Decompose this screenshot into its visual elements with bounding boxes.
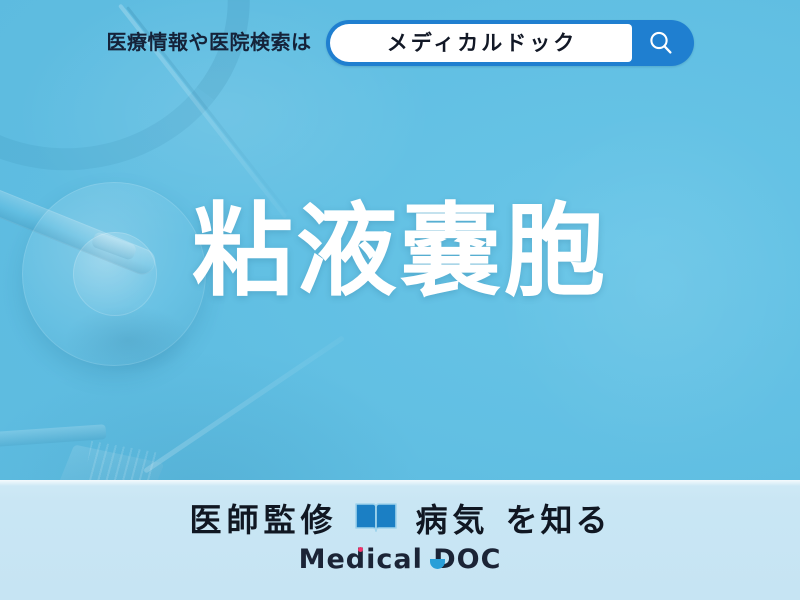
search-input[interactable]: メディカルドック [384,33,578,54]
page-title: 粘液嚢胞 [192,196,608,307]
supervision-label: 医師監修 [189,504,337,536]
open-book-icon [353,498,399,541]
brand-logo: Medical DOC [299,546,502,573]
know-disease-label: 病気 [415,504,489,536]
search-input-wrapper[interactable]: メディカルドック [330,24,632,62]
page-title-wrapper: 粘液嚢胞 [0,196,800,307]
brand-logo-i-dot-icon [358,547,363,552]
search-button[interactable] [632,24,690,62]
footer-tagline: 医師監修 病気 を知る [0,498,800,541]
header-bar: 医療情報や医院検索は メディカルドック [0,0,800,86]
header-lead-text: 医療情報や医院検索は [107,33,312,53]
footer-band: 医師監修 病気 を知る Medical DOC [0,480,800,600]
brand-logo-row: Medical DOC [0,546,800,573]
footer-band-top-edge [0,480,800,486]
medical-doc-article-card: 医療情報や医院検索は メディカルドック 粘液嚢胞 医師監修 [0,0,800,600]
brand-logo-text: Medical DOC [299,544,502,575]
search-bar[interactable]: メディカルドック [326,20,694,66]
search-icon [646,28,676,58]
know-disease-tail: を知る [506,504,611,536]
